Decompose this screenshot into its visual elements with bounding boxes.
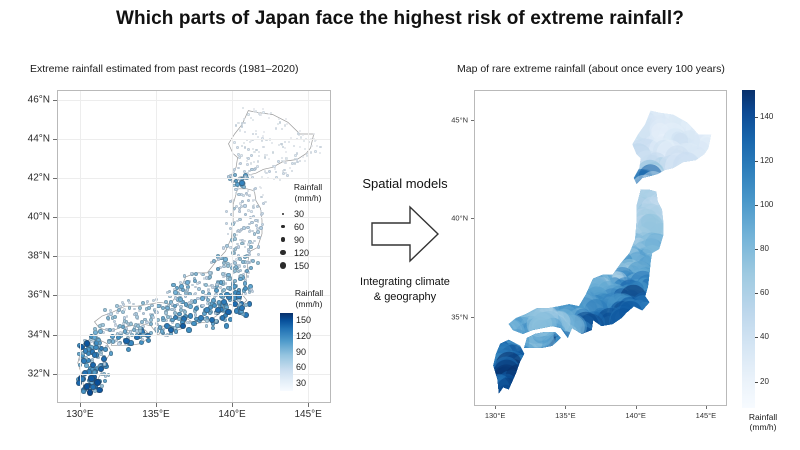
rainfall-station-point: [313, 133, 315, 135]
size-legend-row: 90: [272, 233, 344, 246]
size-legend-swatch-cell: [272, 250, 294, 256]
right-colorbar: 14012010080604020 Rainfall (mm/h): [742, 90, 798, 430]
rainfall-station-point: [257, 136, 259, 138]
size-legend-swatch-cell: [272, 237, 294, 241]
size-legend-dot-icon: [281, 225, 284, 228]
rainfall-station-point: [288, 141, 290, 143]
rainfall-station-point: [98, 366, 104, 372]
spatial-models-label: Spatial models: [340, 176, 470, 191]
rainfall-station-point: [240, 154, 243, 157]
left-panel-subtitle: Extreme rainfall estimated from past rec…: [30, 63, 298, 75]
left-x-tick-label: 130°E: [66, 409, 93, 420]
size-legend-dot-icon: [281, 237, 285, 241]
rainfall-station-point: [149, 322, 153, 326]
rainfall-station-point: [247, 209, 250, 212]
rainfall-station-point: [126, 347, 131, 352]
size-legend-row: 60: [272, 220, 344, 233]
rainfall-station-point: [239, 129, 241, 131]
rainfall-station-point: [226, 286, 230, 290]
left-y-tick-label: 46°N: [28, 94, 50, 105]
right-y-tick: [471, 317, 474, 318]
rainfall-station-point: [285, 118, 287, 120]
left-y-tick: [53, 295, 57, 296]
rainfall-station-point: [262, 135, 264, 137]
rainfall-station-point: [316, 145, 318, 147]
rainfall-station-point: [256, 165, 259, 168]
right-colorbar-tick: [755, 337, 758, 338]
rainfall-station-point: [260, 187, 262, 189]
rainfall-station-point: [246, 193, 249, 196]
rainfall-station-point: [93, 345, 98, 350]
rainfall-station-point: [220, 315, 226, 321]
right-map-surface: [475, 91, 726, 405]
rainfall-station-point: [304, 148, 306, 150]
left-y-tick-label: 34°N: [28, 329, 50, 340]
right-y-tick-label: 40°N: [451, 214, 468, 223]
rainfall-station-point: [254, 219, 257, 222]
right-colorbar-tick: [755, 293, 758, 294]
right-colorbar-title-line1: Rainfall: [738, 412, 788, 422]
size-legend-value: 90: [294, 235, 304, 245]
rainfall-station-point: [188, 304, 193, 309]
rainfall-station-point: [129, 322, 133, 326]
rainfall-station-point: [262, 108, 264, 110]
rainfall-station-point: [281, 157, 283, 159]
rainfall-station-point: [247, 113, 250, 116]
rainfall-station-point: [238, 156, 241, 159]
left-x-tick: [80, 403, 81, 407]
rainfall-station-point: [239, 162, 242, 165]
size-legend-value: 30: [294, 209, 304, 219]
color-legend-tick-label: 120: [296, 332, 311, 341]
color-legend-tick-label: 150: [296, 316, 311, 325]
rainfall-station-point: [250, 162, 252, 164]
right-x-tick-label: 145°E: [696, 411, 717, 420]
rainfall-station-point: [253, 240, 256, 243]
rainfall-station-point: [185, 280, 190, 285]
color-legend-bar-wrap: 150120906030: [272, 313, 346, 391]
rainfall-station-point: [168, 327, 174, 333]
rainfall-station-point: [222, 265, 226, 269]
rainfall-station-point: [246, 261, 249, 264]
size-legend-swatch-cell: [272, 225, 294, 228]
rainfall-station-point: [183, 274, 187, 278]
right-colorbar-tick: [755, 205, 758, 206]
left-gridline-horizontal: [58, 100, 330, 101]
right-y-tick: [471, 120, 474, 121]
rainfall-station-point: [268, 117, 270, 119]
right-map-plot: [474, 90, 727, 406]
right-colorbar-title: Rainfall (mm/h): [738, 412, 788, 432]
size-legend-value: 60: [294, 222, 304, 232]
right-colorbar-tick-label: 20: [760, 378, 769, 386]
rainfall-station-point: [194, 313, 198, 317]
left-x-tick: [156, 403, 157, 407]
rainfall-station-point: [186, 288, 190, 292]
rainfall-station-point: [152, 299, 155, 302]
rainfall-station-point: [90, 362, 96, 368]
rainfall-station-point: [238, 210, 241, 213]
rainfall-station-point: [284, 141, 286, 143]
left-y-tick: [53, 374, 57, 375]
rainfall-station-point: [117, 342, 120, 345]
right-x-tick: [565, 406, 566, 409]
rainfall-station-point: [204, 307, 210, 313]
rainfall-station-point: [278, 118, 280, 120]
rainfall-station-point: [164, 300, 168, 304]
size-legend-row: 150: [272, 259, 344, 272]
left-y-tick-label: 36°N: [28, 290, 50, 301]
rainfall-station-point: [156, 304, 160, 308]
rainfall-station-point: [268, 170, 271, 173]
rainfall-station-point: [247, 148, 250, 151]
rainfall-station-point: [123, 329, 128, 334]
left-y-tick: [53, 139, 57, 140]
color-legend: Rainfall (mm/h) 150120906030: [272, 288, 346, 391]
rainfall-station-point: [274, 168, 276, 170]
size-legend-dot-icon: [280, 250, 286, 256]
rainfall-station-point: [293, 145, 295, 147]
rainfall-station-point: [277, 160, 280, 163]
rainfall-station-point: [257, 245, 260, 248]
rainfall-station-point: [319, 146, 322, 149]
rainfall-station-point: [286, 157, 288, 159]
left-y-tick: [53, 100, 57, 101]
rainfall-station-point: [128, 301, 131, 304]
rainfall-station-point: [253, 110, 255, 112]
size-legend-dot-icon: [280, 262, 287, 269]
rainfall-station-point: [132, 328, 136, 332]
rainfall-station-point: [101, 356, 107, 362]
rainfall-station-point: [179, 305, 183, 309]
rainfall-station-point: [299, 146, 301, 148]
rainfall-station-point: [245, 269, 250, 274]
rainfall-station-point: [201, 304, 204, 307]
rainfall-station-point: [259, 226, 263, 230]
size-legend-title-line2: (mm/h): [272, 193, 344, 204]
rainfall-station-point: [200, 296, 205, 301]
left-gridline-vertical: [156, 91, 157, 402]
size-legend-row: 120: [272, 246, 344, 259]
size-legend-title: Rainfall (mm/h): [272, 182, 344, 204]
left-y-tick-label: 40°N: [28, 212, 50, 223]
rainfall-station-point: [221, 299, 227, 305]
rainfall-station-point: [314, 150, 317, 153]
rainfall-station-point: [211, 298, 216, 303]
rainfall-station-point: [204, 283, 208, 287]
rainfall-station-point: [98, 329, 103, 334]
rainfall-station-point: [239, 180, 245, 186]
size-legend-rows: 306090120150: [272, 207, 344, 272]
rainfall-station-point: [256, 205, 259, 208]
rainfall-station-point: [260, 196, 263, 199]
rainfall-station-point: [133, 308, 136, 311]
figure-root: Which parts of Japan face the highest ri…: [0, 0, 800, 450]
process-annotation: Spatial models Integrating climate & geo…: [340, 176, 470, 305]
color-legend-title: Rainfall (mm/h): [272, 288, 346, 310]
left-y-tick: [53, 178, 57, 179]
left-x-tick: [232, 403, 233, 407]
figure-title: Which parts of Japan face the highest ri…: [0, 8, 800, 30]
rainfall-station-point: [262, 111, 264, 113]
rainfall-station-point: [170, 318, 175, 323]
rainfall-station-point: [246, 163, 249, 166]
right-x-tick-label: 130°E: [485, 411, 506, 420]
rainfall-station-point: [180, 323, 186, 329]
rainfall-station-point: [238, 265, 241, 268]
rainfall-station-point: [286, 174, 289, 177]
rainfall-station-point: [296, 152, 299, 155]
left-gridline-vertical: [80, 91, 81, 402]
rainfall-station-point: [247, 199, 250, 202]
rainfall-station-point: [291, 162, 294, 165]
right-colorbar-tick: [755, 382, 758, 383]
rainfall-station-point: [194, 306, 199, 311]
rainfall-station-point: [233, 269, 237, 273]
rainfall-station-point: [226, 273, 230, 277]
rainfall-station-point: [212, 259, 216, 263]
rainfall-station-point: [253, 151, 255, 153]
right-y-tick-label: 35°N: [451, 313, 468, 322]
rainfall-station-point: [250, 154, 253, 157]
rainfall-station-point: [188, 313, 193, 318]
right-colorbar-tick-label: 60: [760, 289, 769, 297]
color-legend-tick-label: 60: [296, 363, 306, 372]
rainfall-station-point: [83, 348, 89, 354]
right-colorbar-tick-label: 80: [760, 245, 769, 253]
rainfall-station-point: [103, 347, 108, 352]
integrating-label: Integrating climate & geography: [340, 275, 470, 305]
rainfall-station-point: [84, 340, 91, 347]
size-legend-value: 150: [294, 261, 309, 271]
rainfall-station-point: [225, 309, 231, 315]
rainfall-station-point: [108, 328, 112, 332]
left-y-tick: [53, 335, 57, 336]
rainfall-station-point: [87, 389, 94, 396]
left-x-tick-label: 140°E: [218, 409, 245, 420]
rainfall-station-point: [237, 245, 240, 248]
rainfall-station-point: [297, 133, 300, 136]
rainfall-station-point: [250, 210, 253, 213]
rainfall-station-point: [233, 141, 236, 144]
rainfall-station-point: [173, 290, 178, 295]
rainfall-station-point: [247, 157, 250, 160]
color-legend-title-line1: Rainfall: [272, 288, 346, 299]
left-y-tick: [53, 256, 57, 257]
left-x-tick-label: 135°E: [142, 409, 169, 420]
rainfall-station-point: [98, 324, 102, 328]
rainfall-station-point: [166, 291, 169, 294]
rainfall-station-point: [203, 277, 206, 280]
rainfall-station-point: [282, 172, 285, 175]
left-y-tick-label: 44°N: [28, 133, 50, 144]
left-x-tick-label: 145°E: [294, 409, 321, 420]
left-gridline-vertical: [232, 91, 233, 402]
color-legend-tick-label: 90: [296, 348, 306, 357]
rainfall-station-point: [138, 310, 141, 313]
rainfall-station-point: [257, 236, 260, 239]
integrating-label-line1: Integrating climate: [340, 275, 470, 290]
rainfall-station-point: [258, 112, 260, 114]
rainfall-station-point: [215, 307, 221, 313]
right-arrow-outline-icon: [366, 203, 444, 265]
rainfall-station-point: [82, 370, 88, 376]
rainfall-station-point: [243, 122, 245, 124]
size-legend-value: 120: [294, 248, 309, 258]
rainfall-station-point: [184, 302, 189, 307]
size-legend-dot-icon: [282, 213, 284, 215]
right-y-tick: [471, 218, 474, 219]
left-y-tick-label: 32°N: [28, 368, 50, 379]
rainfall-station-point: [255, 133, 257, 135]
left-y-tick: [53, 217, 57, 218]
rainfall-station-point: [243, 286, 248, 291]
integrating-label-line2: & geography: [340, 290, 470, 305]
right-map-canvas: [475, 91, 726, 405]
rainfall-station-point: [256, 230, 260, 234]
rainfall-station-point: [285, 151, 287, 153]
rainfall-station-point: [179, 284, 184, 289]
size-legend: Rainfall (mm/h) 306090120150: [272, 182, 344, 272]
rainfall-station-point: [253, 168, 256, 171]
rainfall-station-point: [257, 160, 259, 162]
rainfall-station-point: [262, 146, 264, 148]
rainfall-station-point: [244, 213, 247, 216]
rainfall-station-point: [253, 232, 257, 236]
rainfall-station-point: [123, 308, 126, 311]
rainfall-station-point: [84, 363, 89, 368]
right-colorbar-tick: [755, 117, 758, 118]
right-x-tick-label: 135°E: [555, 411, 576, 420]
rainfall-station-point: [244, 146, 247, 149]
rainfall-station-point: [81, 358, 87, 364]
rainfall-station-point: [140, 320, 144, 324]
rainfall-station-point: [174, 296, 177, 299]
left-y-tick-label: 42°N: [28, 173, 50, 184]
right-x-tick-label: 140°E: [625, 411, 646, 420]
rainfall-station-point: [146, 338, 151, 343]
right-x-tick: [636, 406, 637, 409]
size-legend-title-line1: Rainfall: [272, 182, 344, 193]
left-y-tick-label: 38°N: [28, 251, 50, 262]
color-legend-title-line2: (mm/h): [272, 299, 346, 310]
rainfall-station-point: [250, 140, 252, 142]
right-x-tick: [706, 406, 707, 409]
rainfall-station-point: [186, 327, 191, 332]
size-legend-row: 30: [272, 207, 344, 220]
rainfall-station-point: [132, 303, 135, 306]
right-colorbar-tick-label: 120: [760, 157, 773, 165]
size-legend-swatch-cell: [272, 213, 294, 215]
rainfall-station-point: [238, 277, 243, 282]
rainfall-station-point: [264, 201, 266, 203]
right-y-tick-label: 45°N: [451, 115, 468, 124]
color-legend-tick-label: 30: [296, 379, 306, 388]
right-colorbar-tick-label: 140: [760, 113, 773, 121]
size-legend-swatch-cell: [272, 262, 294, 269]
right-colorbar-gradient: [742, 90, 755, 408]
rainfall-station-point: [236, 220, 239, 223]
rainfall-station-point: [272, 151, 275, 154]
right-colorbar-tick-label: 40: [760, 333, 769, 341]
right-colorbar-tick: [755, 161, 758, 162]
rainfall-station-point: [224, 323, 229, 328]
rainfall-station-point: [311, 145, 313, 147]
rainfall-station-point: [92, 335, 97, 340]
rainfall-station-point: [261, 223, 264, 226]
rainfall-station-point: [94, 379, 101, 386]
rainfall-station-point: [178, 297, 183, 302]
rainfall-station-point: [302, 134, 304, 136]
rainfall-station-point: [209, 317, 215, 323]
right-colorbar-title-line2: (mm/h): [738, 422, 788, 432]
rainfall-station-point: [243, 204, 246, 207]
rainfall-station-point: [252, 119, 254, 121]
rainfall-station-point: [242, 226, 246, 230]
right-x-tick: [495, 406, 496, 409]
color-legend-gradient: [280, 313, 293, 391]
right-colorbar-tick-label: 100: [760, 201, 773, 209]
rainfall-station-point: [190, 272, 193, 275]
rainfall-station-point: [205, 324, 209, 328]
left-x-tick: [308, 403, 309, 407]
right-panel-subtitle: Map of rare extreme rainfall (about once…: [457, 63, 725, 75]
rainfall-station-point: [223, 257, 228, 262]
rainfall-station-point: [146, 300, 149, 303]
right-colorbar-tick: [755, 249, 758, 250]
rainfall-station-point: [136, 324, 140, 328]
rainfall-station-point: [314, 140, 316, 142]
rainfall-station-point: [135, 315, 139, 319]
left-gridline-horizontal: [58, 139, 330, 140]
rainfall-station-point: [261, 212, 264, 215]
rainfall-station-point: [214, 288, 219, 293]
left-gridline-horizontal: [58, 178, 330, 179]
rainfall-station-point: [198, 315, 204, 321]
rainfall-station-point: [255, 110, 257, 112]
